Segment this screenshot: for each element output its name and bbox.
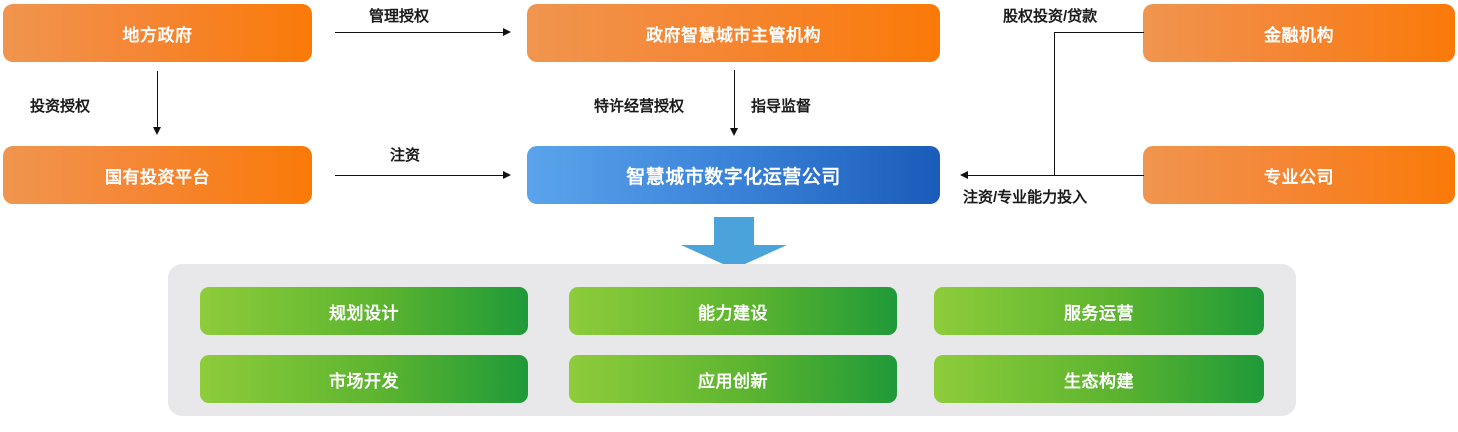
node-professional-companies[interactable]: 专业公司 (1143, 146, 1455, 204)
capability-item-2[interactable]: 服务运营 (934, 287, 1264, 335)
node-operating-company[interactable]: 智慧城市数字化运营公司 (527, 146, 940, 204)
node-state-investment-platform-label: 国有投资平台 (105, 163, 210, 188)
node-professional-companies-label: 专业公司 (1264, 163, 1334, 188)
node-gov-smart-city-authority-label: 政府智慧城市主管机构 (646, 21, 821, 46)
capability-item-3[interactable]: 市场开发 (200, 355, 528, 403)
capability-item-3-label: 市场开发 (329, 367, 399, 392)
capability-panel: 规划设计 能力建设 服务运营 市场开发 应用创新 生态构建 (168, 264, 1296, 416)
connector-line-management-authorization (335, 32, 503, 33)
connector-label-capital-injection: 注资 (390, 144, 420, 165)
big-down-arrow-icon (681, 217, 787, 269)
node-financial-institutions[interactable]: 金融机构 (1143, 4, 1455, 62)
connector-line-capital-injection (335, 175, 503, 176)
node-state-investment-platform[interactable]: 国有投资平台 (3, 146, 312, 204)
connector-label-investment-authorization: 投资授权 (30, 95, 90, 116)
capability-item-0[interactable]: 规划设计 (200, 287, 528, 335)
capability-item-5[interactable]: 生态构建 (934, 355, 1264, 403)
connector-line-authority-to-operating-company (734, 70, 735, 128)
node-local-government-label: 地方政府 (123, 21, 193, 46)
connector-label-management-authorization: 管理授权 (369, 5, 429, 26)
capability-item-1-label: 能力建设 (698, 299, 768, 324)
connector-line-investment-authorization (157, 71, 158, 127)
arrow-right-icon-capital-injection (503, 171, 511, 179)
node-operating-company-label: 智慧城市数字化运营公司 (626, 162, 841, 189)
connector-label-equity-investment-loan: 股权投资/贷款 (1003, 5, 1097, 26)
diagram-canvas: 地方政府 政府智慧城市主管机构 金融机构 国有投资平台 智慧城市数字化运营公司 … (0, 0, 1458, 432)
capability-item-0-label: 规划设计 (329, 299, 399, 324)
arrow-down-icon-investment-authorization (153, 127, 161, 135)
arrow-left-icon-to-operating-company (960, 171, 968, 179)
capability-item-2-label: 服务运营 (1064, 299, 1134, 324)
connector-line-professional-to-operating-company (968, 175, 1144, 176)
connector-label-guidance-supervision: 指导监督 (751, 95, 811, 116)
connector-line-financial-to-elbow (1054, 32, 1144, 33)
node-gov-smart-city-authority[interactable]: 政府智慧城市主管机构 (527, 4, 940, 62)
capability-item-4-label: 应用创新 (698, 367, 768, 392)
capability-item-1[interactable]: 能力建设 (569, 287, 897, 335)
arrow-down-icon-authority-to-operating-company (730, 128, 738, 136)
node-financial-institutions-label: 金融机构 (1264, 21, 1334, 46)
node-local-government[interactable]: 地方政府 (3, 4, 312, 62)
connector-label-franchise-authorization: 特许经营授权 (594, 95, 684, 116)
connector-line-elbow-vertical (1054, 32, 1055, 175)
capability-item-4[interactable]: 应用创新 (569, 355, 897, 403)
arrow-right-icon-management-authorization (503, 28, 511, 36)
capability-item-5-label: 生态构建 (1064, 367, 1134, 392)
connector-label-capital-and-capability-input: 注资/专业能力投入 (963, 186, 1087, 207)
